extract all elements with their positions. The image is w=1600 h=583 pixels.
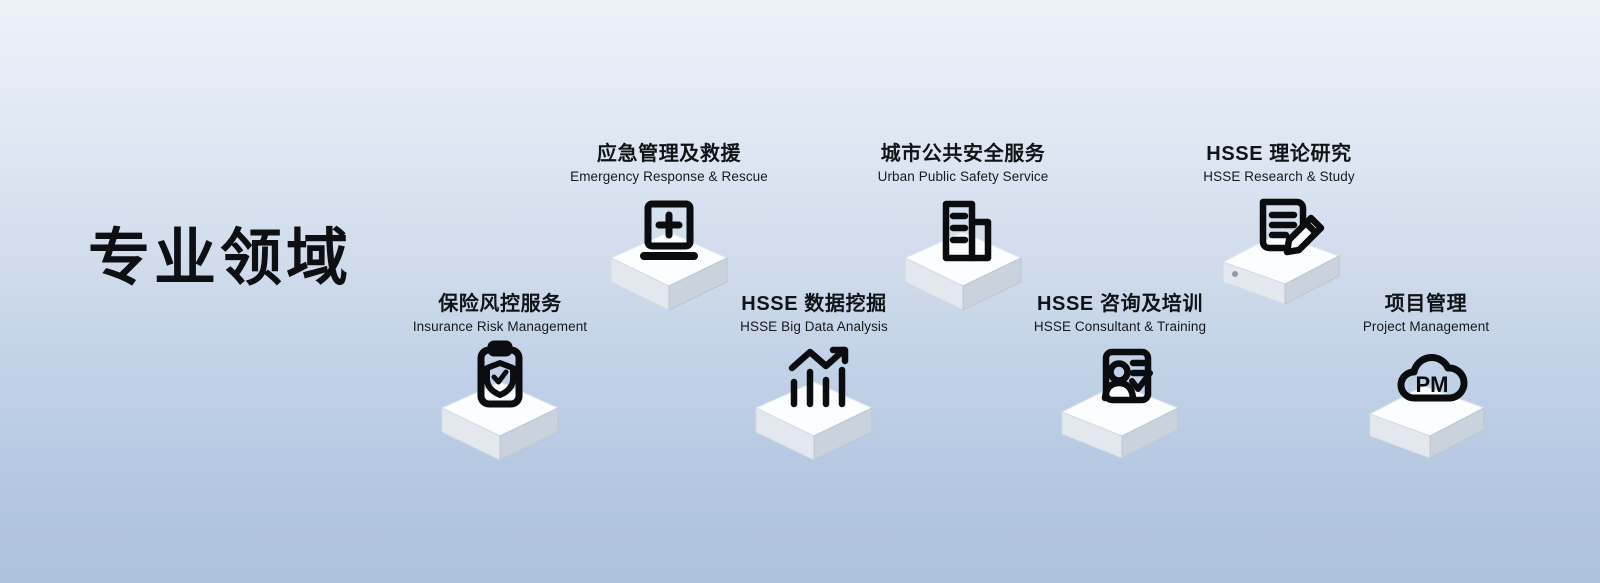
item-title-cn: HSSE 咨询及培训 — [1000, 294, 1240, 316]
item-icon-stage: PM — [1306, 344, 1546, 464]
item-title-cn: HSSE 数据挖掘 — [694, 294, 934, 316]
item-title-en: Project Management — [1306, 319, 1546, 335]
pedestal-cube — [756, 382, 872, 460]
field-item-hsse-research-study[interactable]: HSSE 理论研究 HSSE Research & Study — [1159, 144, 1399, 314]
bar-chart-trend-arrow-icon — [694, 344, 934, 474]
item-title-en: HSSE Big Data Analysis — [694, 319, 934, 335]
pedestal-cube — [1062, 384, 1178, 458]
field-item-hsse-big-data-analysis[interactable]: HSSE 数据挖掘 HSSE Big Data Analysis — [694, 294, 934, 464]
item-title-cn: 保险风控服务 — [380, 294, 620, 316]
item-title-en: HSSE Research & Study — [1159, 169, 1399, 185]
item-title-cn: HSSE 理论研究 — [1159, 144, 1399, 166]
item-icon-stage — [380, 344, 620, 464]
item-title-cn: 城市公共安全服务 — [843, 144, 1083, 166]
monitor-glyph — [644, 204, 694, 256]
item-title-cn: 项目管理 — [1306, 294, 1546, 316]
item-title-en: HSSE Consultant & Training — [1000, 319, 1240, 335]
field-item-insurance-risk-management[interactable]: 保险风控服务 Insurance Risk Management — [380, 294, 620, 464]
item-icon-stage — [694, 344, 934, 464]
item-title-en: Emergency Response & Rescue — [549, 169, 789, 185]
cloud-pm-icon: PM — [1306, 344, 1546, 474]
field-item-urban-public-safety-service[interactable]: 城市公共安全服务 Urban Public Safety Service — [843, 144, 1083, 314]
field-item-project-management[interactable]: 项目管理 Project Management PM — [1306, 294, 1546, 464]
page-title: 专业领域 — [88, 228, 352, 290]
field-item-hsse-consultant-training[interactable]: HSSE 咨询及培训 HSSE Consultant & Training — [1000, 294, 1240, 464]
cloud-glyph: PM — [1401, 358, 1464, 398]
item-title-cn: 应急管理及救援 — [549, 144, 789, 166]
item-title-en: Urban Public Safety Service — [843, 169, 1083, 185]
id-card-person-check-icon — [1000, 344, 1240, 474]
cloud-pm-label: PM — [1416, 372, 1449, 397]
field-item-emergency-response-rescue[interactable]: 应急管理及救援 Emergency Response & Rescue — [549, 144, 789, 314]
professional-fields-banner: 专业领域 应急管理及救援 Emergency Response & Rescue — [0, 0, 1600, 583]
item-title-en: Insurance Risk Management — [380, 319, 620, 335]
clipboard-shield-check-icon — [380, 344, 620, 474]
item-icon-stage — [1000, 344, 1240, 464]
